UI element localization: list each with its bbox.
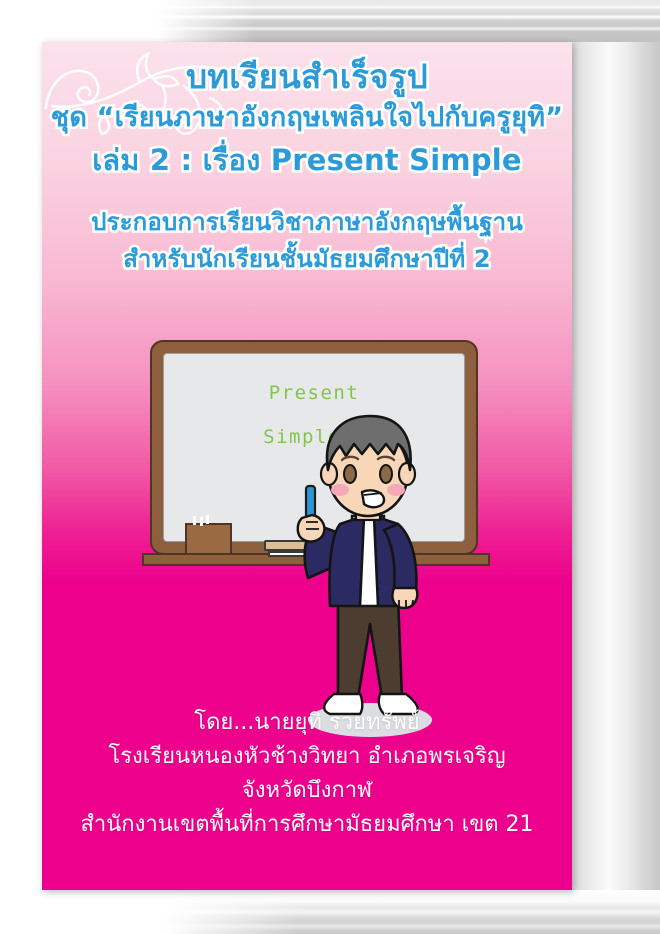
chalk-box-icon	[185, 523, 232, 555]
cover-title-line-3: เล่ม 2 : เรื่อง Present Simple	[42, 145, 572, 175]
board-text-present: Present	[164, 382, 464, 404]
cover-subtitle-line-2: สำหรับนักเรียนชั้นมัธยมศึกษาปีที่ 2	[42, 247, 572, 272]
teacher-illustration	[278, 412, 458, 742]
footer-education-office: สำนักงานเขตพื้นที่การศึกษามัธยมศึกษา เขต…	[42, 812, 572, 838]
cover-page: บทเรียนสำเร็จรูป ชุด “เรียนภาษาอังกฤษเพล…	[42, 42, 572, 890]
footer-province: จังหวัดบึงกาฬ	[42, 778, 572, 804]
viewer-top-band	[0, 0, 660, 42]
cover-title-line-1: บทเรียนสำเร็จรูป	[42, 60, 572, 95]
left-eye	[344, 465, 356, 483]
trousers	[338, 598, 402, 698]
right-eye	[380, 465, 392, 483]
footer-author: โดย...นายยุทิ รวยทรัพย์	[42, 710, 572, 736]
jacket	[329, 516, 364, 606]
viewer-bottom-band	[0, 890, 660, 934]
cover-subtitle-line-1: ประกอบการเรียนวิชาภาษาอังกฤษพื้นฐาน	[42, 210, 572, 235]
cover-title-line-2: ชุด “เรียนภาษาอังกฤษเพลินใจไปกับครูยุทิ”	[42, 104, 572, 132]
footer-school: โรงเรียนหนองหัวช้างวิทยา อำเภอพรเจริญ	[42, 744, 572, 770]
lowered-hand	[392, 588, 417, 608]
